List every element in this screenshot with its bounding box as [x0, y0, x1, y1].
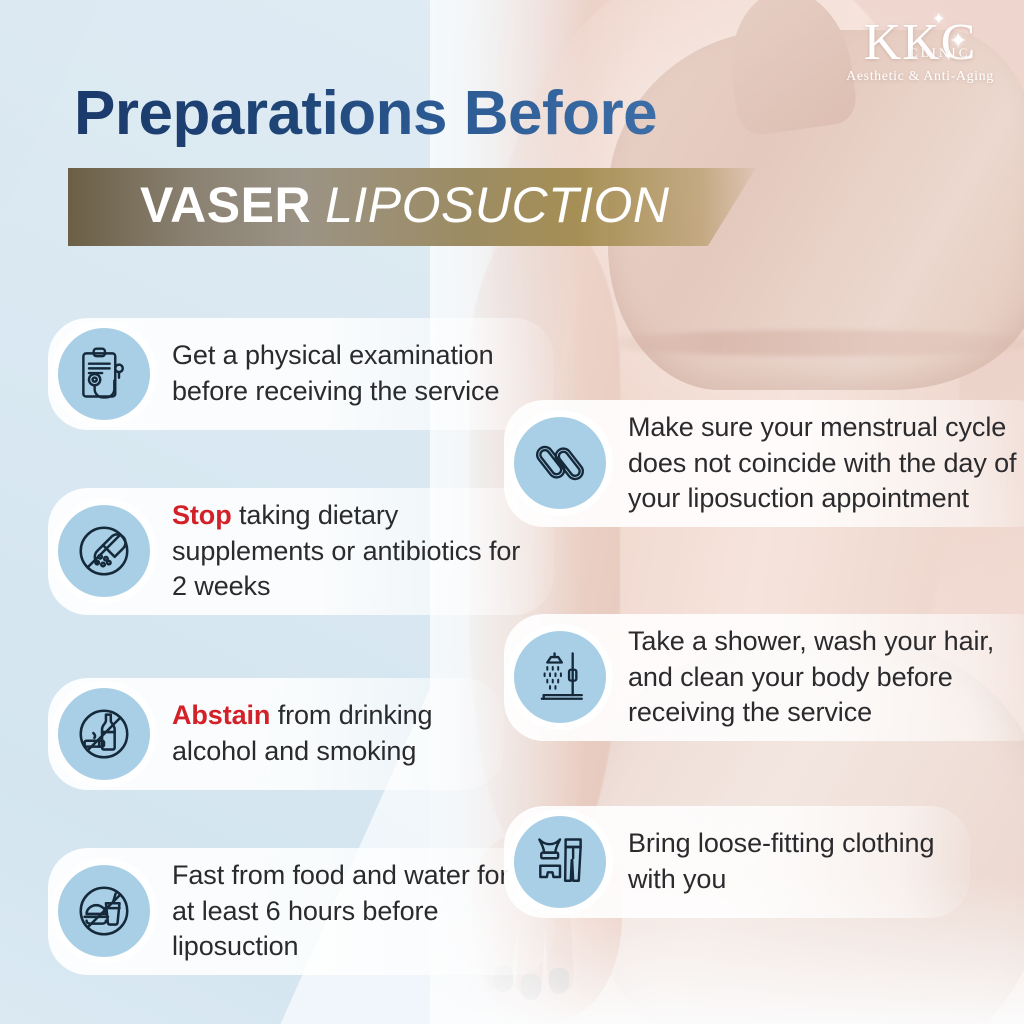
- list-item-text: Get a physical examination before receiv…: [172, 338, 528, 409]
- list-item-highlight: Abstain: [172, 700, 270, 730]
- subtitle-liposuction: LIPOSUCTION: [325, 177, 669, 233]
- page-subtitle: VASERLIPOSUCTION: [140, 176, 670, 234]
- brand-logo: KKC CLINIC ✦ ✦ ✦ Aesthetic & Anti-Aging: [834, 18, 1006, 85]
- list-item-text: Stop taking dietary supplements or antib…: [172, 498, 528, 605]
- list-item-text: Take a shower, wash your hair, and clean…: [628, 624, 1024, 731]
- list-item: Take a shower, wash your hair, and clean…: [504, 614, 1024, 741]
- list-item-highlight: Stop: [172, 500, 232, 530]
- sparkle-icon: ✦: [949, 30, 968, 52]
- subtitle-vaser: VASER: [140, 177, 311, 233]
- infographic-poster: KKC CLINIC ✦ ✦ ✦ Aesthetic & Anti-Aging …: [0, 0, 1024, 1024]
- list-item-text: Make sure your menstrual cycle does not …: [628, 410, 1024, 517]
- clipboard-stethoscope-icon: [58, 328, 150, 420]
- list-item: Abstain from drinking alcohol and smokin…: [48, 678, 504, 790]
- sparkle-icon: ✦: [944, 52, 954, 63]
- list-item-body: Make sure your menstrual cycle does not …: [628, 412, 1016, 513]
- list-item-body: Take a shower, wash your hair, and clean…: [628, 626, 994, 727]
- no-alcohol-smoking-icon: [58, 688, 150, 780]
- list-item-body: Bring loose-fitting clothing with you: [628, 828, 934, 894]
- no-food-drink-icon: [58, 865, 150, 957]
- list-item: Make sure your menstrual cycle does not …: [504, 400, 1024, 527]
- sanitary-pad-icon: [514, 417, 606, 509]
- clothing-icon: [514, 816, 606, 908]
- list-item: Fast from food and water for at least 6 …: [48, 848, 554, 975]
- list-item-body: Fast from food and water for at least 6 …: [172, 860, 508, 961]
- list-item: Get a physical examination before receiv…: [48, 318, 554, 430]
- list-item-text: Fast from food and water for at least 6 …: [172, 858, 528, 965]
- list-item: Stop taking dietary supplements or antib…: [48, 488, 554, 615]
- no-pills-icon: [58, 505, 150, 597]
- list-item-text: Abstain from drinking alcohol and smokin…: [172, 698, 478, 769]
- list-item-text: Bring loose-fitting clothing with you: [628, 826, 944, 897]
- list-item: Bring loose-fitting clothing with you: [504, 806, 970, 918]
- page-title: Preparations Before: [74, 78, 657, 149]
- sparkle-icon: ✦: [932, 12, 946, 28]
- logo-wordmark: KKC CLINIC ✦ ✦ ✦: [864, 18, 977, 67]
- shower-icon: [514, 631, 606, 723]
- logo-tagline: Aesthetic & Anti-Aging: [834, 69, 1006, 85]
- list-item-body: Get a physical examination before receiv…: [172, 340, 499, 406]
